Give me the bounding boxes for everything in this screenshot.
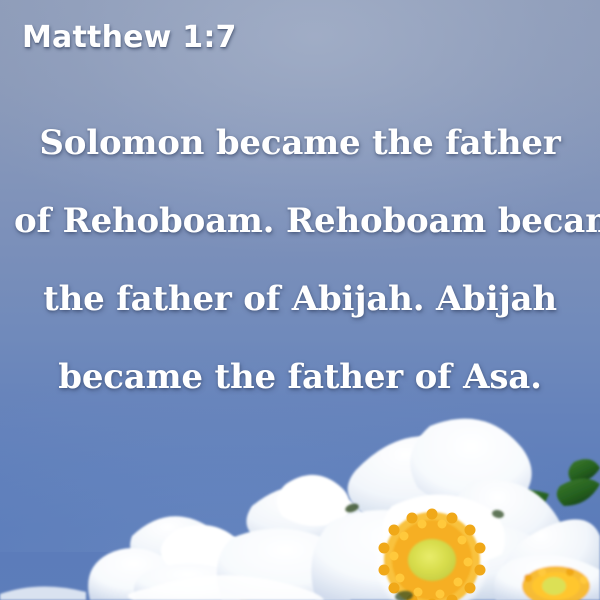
flower-center-left	[217, 475, 366, 600]
verse-text-block: Solomon became the father of Rehoboam. R…	[0, 104, 600, 416]
flower-left	[88, 516, 262, 600]
flower-band	[0, 410, 600, 600]
flower-speck-group	[344, 502, 505, 600]
leaf-cluster-right	[493, 459, 600, 539]
flower-right	[494, 519, 600, 600]
verse-line-4: became the father of Asa.	[0, 338, 600, 416]
verse-line-1: Solomon became the father	[0, 104, 600, 182]
scripture-verse-card: Matthew 1:7 Solomon became the father of…	[0, 0, 600, 600]
verse-line-3: the father of Abijah. Abijah	[0, 260, 600, 338]
flower-center	[311, 419, 565, 600]
verse-line-2: of Rehoboam. Rehoboam became	[14, 182, 600, 260]
verse-reference: Matthew 1:7	[22, 20, 237, 55]
foreground-petals	[0, 575, 324, 600]
stamen-center	[376, 504, 488, 600]
stamen-left	[230, 573, 262, 599]
stamen-right	[522, 566, 590, 600]
